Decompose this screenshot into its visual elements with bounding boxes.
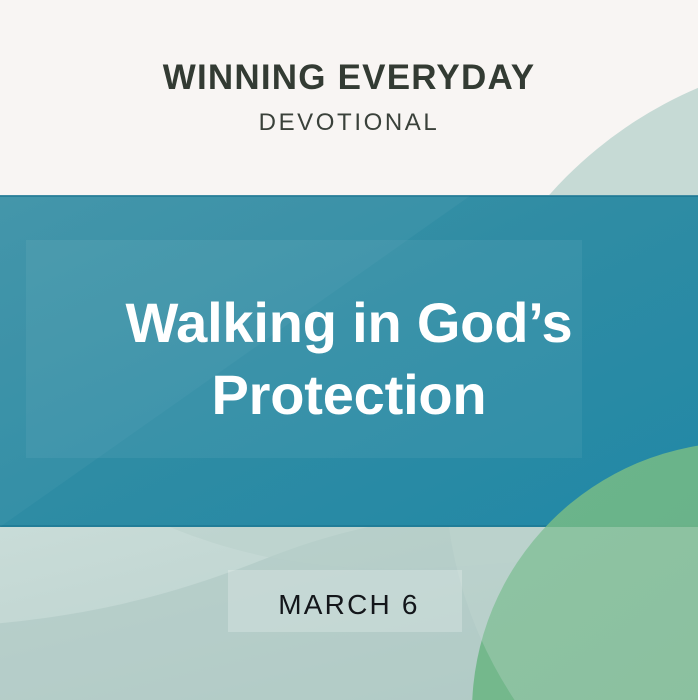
- devotional-title: Walking in God’s Protection: [89, 287, 609, 436]
- date-section: MARCH 6: [0, 565, 698, 645]
- title-section: Walking in God’s Protection: [0, 197, 698, 527]
- devotional-card: WINNING EVERYDAY DEVOTIONAL Walking in G…: [0, 0, 698, 700]
- header: WINNING EVERYDAY DEVOTIONAL: [0, 0, 698, 195]
- brand-title: WINNING EVERYDAY: [163, 60, 536, 95]
- brand-subtitle: DEVOTIONAL: [259, 111, 440, 135]
- date-label: MARCH 6: [278, 591, 419, 619]
